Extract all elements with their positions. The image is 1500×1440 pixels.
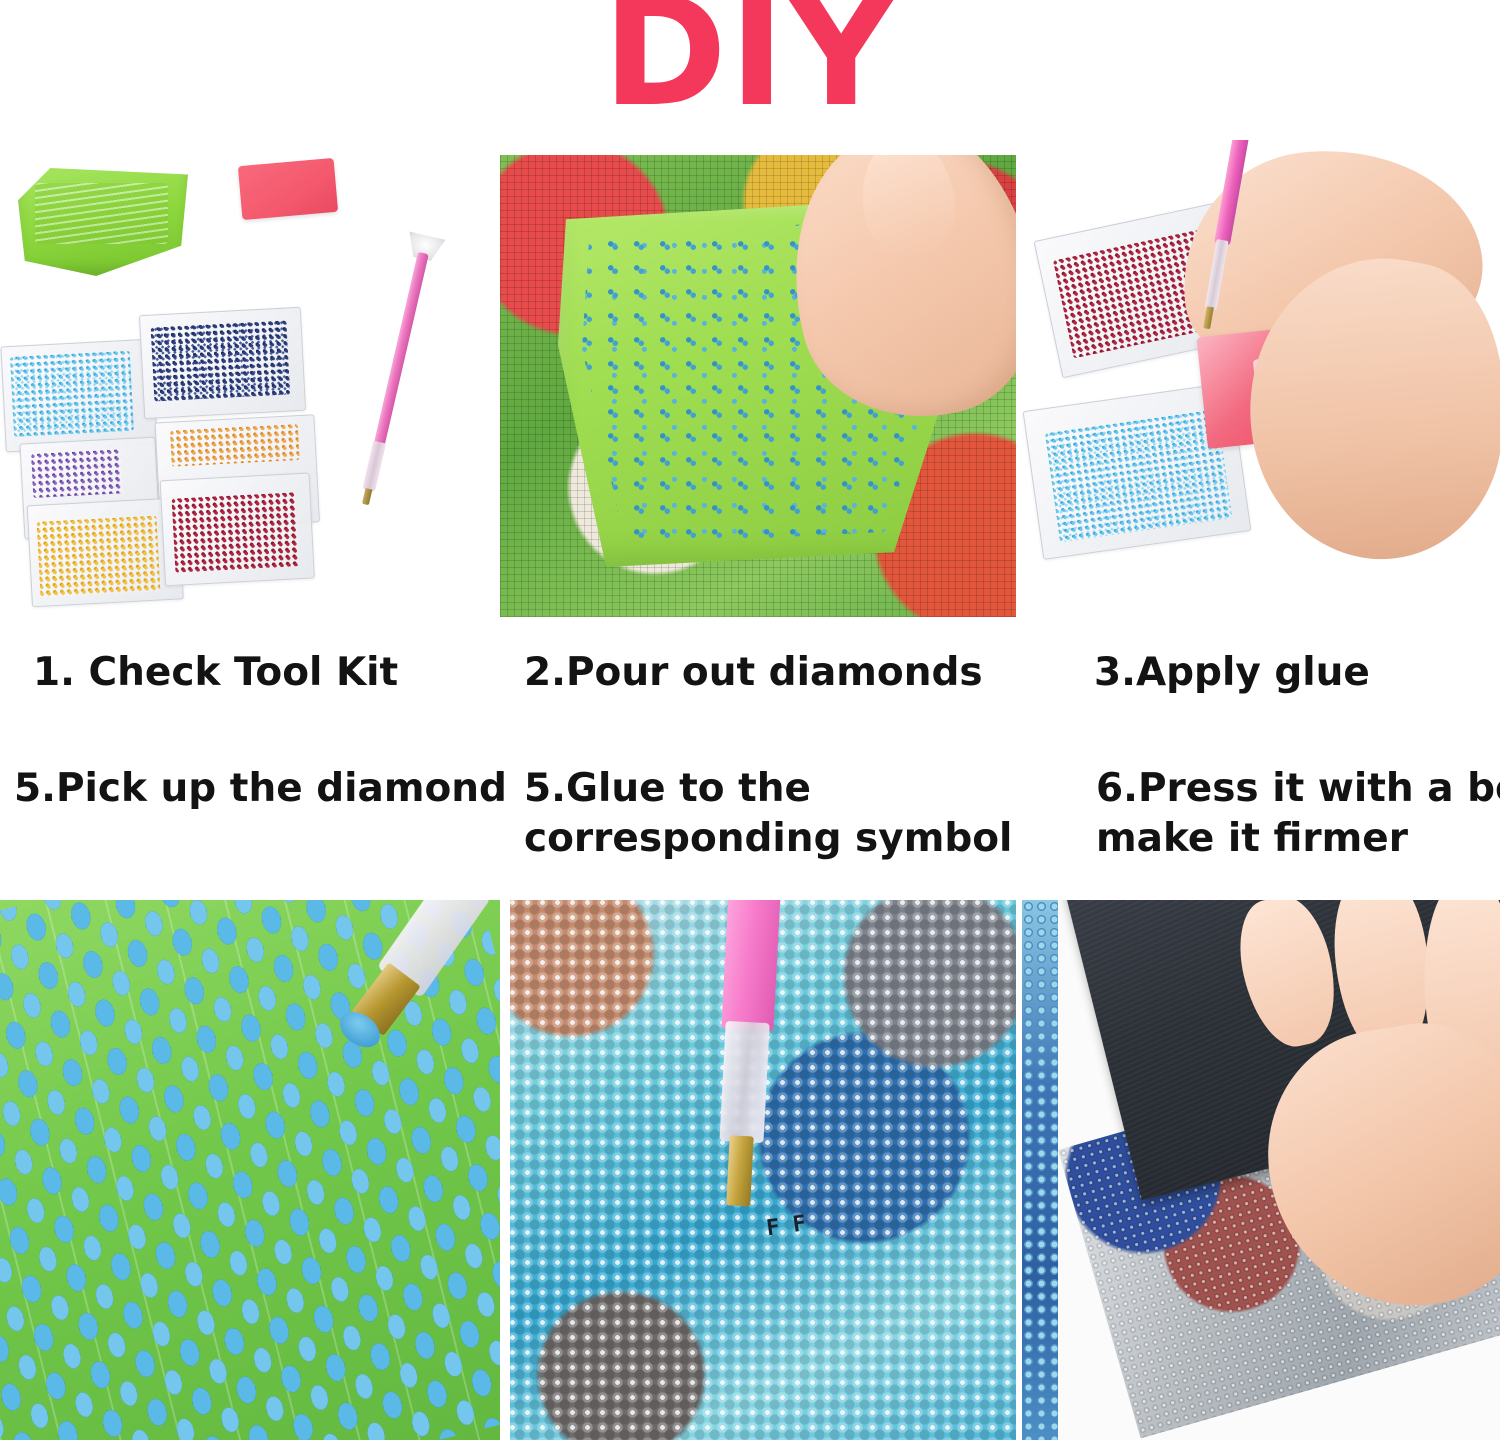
- bag-crimson: [160, 473, 315, 587]
- step-3-caption: 3.Apply glue: [1094, 648, 1370, 698]
- bag-navy: [139, 307, 306, 419]
- step-4-caption: 5.Pick up the diamond: [14, 764, 507, 814]
- step-1-image: [0, 140, 498, 630]
- step-5-image: F F: [510, 900, 1016, 1440]
- step-6-caption: 6.Press it with a bo make it firmer: [1096, 764, 1500, 864]
- step-4-image: [0, 900, 500, 1440]
- step-5-caption: 5.Glue to the corresponding symbol: [524, 764, 1012, 864]
- page-title: DIY: [0, 0, 1500, 128]
- drill-pen-icon: [360, 216, 439, 497]
- step-3-image: [1022, 140, 1500, 620]
- diy-instruction-sheet: DIY: [0, 0, 1500, 1440]
- glue-pad-icon: [238, 158, 338, 220]
- step-1-caption: 1. Check Tool Kit: [33, 648, 398, 698]
- green-tray-icon: [18, 168, 188, 276]
- drill-bags-group: [0, 292, 334, 608]
- step-2-caption: 2.Pour out diamonds: [524, 648, 983, 698]
- bag-gold: [27, 497, 184, 607]
- step-2-image: [500, 155, 1016, 617]
- canvas-edge-drills: [1022, 900, 1058, 1440]
- bag-light-blue: [0, 339, 157, 453]
- step-6-image: [1022, 900, 1500, 1440]
